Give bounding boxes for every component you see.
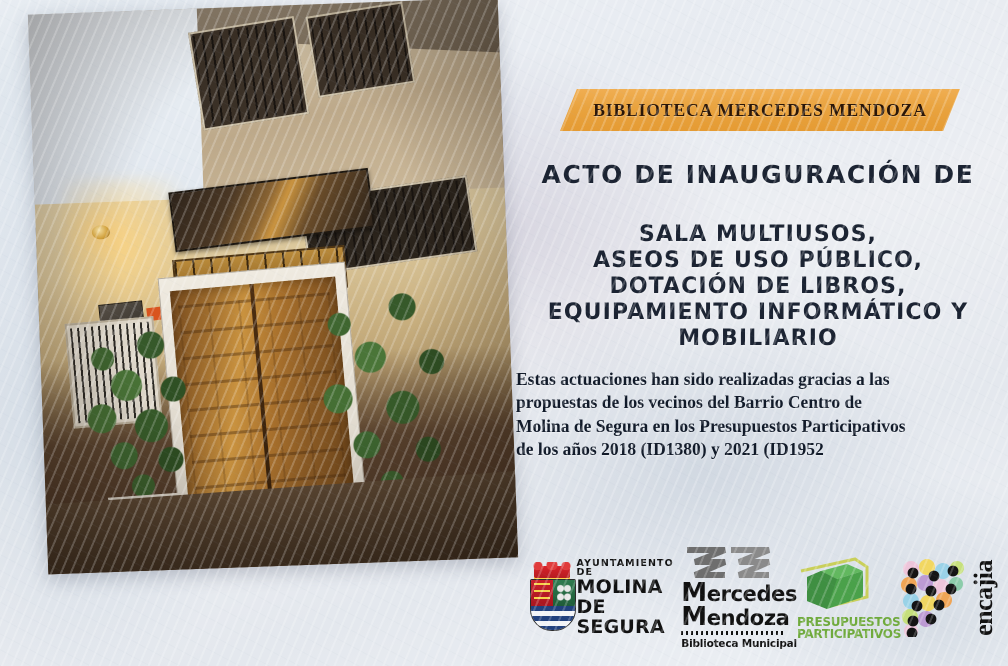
logo-presupuestos-participativos: PRESUPUESTOS PARTICIPATIVOS: [797, 557, 901, 640]
logo-biblioteca-mercedes-mendoza: Mercedes Mendoza Biblioteca Municipal: [681, 546, 797, 651]
library-banner: BIBLIOTECA MERCEDES MENDOZA: [560, 89, 960, 131]
logo-ayuntamiento-molina-de-segura: AYUNTAMIENTO DE MOLINA DE SEGURA: [528, 559, 681, 638]
mm-name-line-2: Mendoza: [681, 606, 797, 630]
building-photo: [28, 0, 518, 574]
presupuestos-wordmark: PRESUPUESTOS PARTICIPATIVOS: [797, 616, 901, 640]
description-line-3: Molina de Segura en los Presupuestos Par…: [516, 415, 1002, 438]
subtitle-line-2: ASEOS DE USO PÚBLICO,: [508, 248, 1008, 274]
subtitle-block: SALA MULTIUSOS, ASEOS DE USO PÚBLICO, DO…: [508, 222, 1008, 352]
mm-divider: [681, 631, 785, 635]
logo-encajia: encajia: [901, 559, 999, 637]
presupuestos-line-1: PRESUPUESTOS: [797, 616, 901, 628]
content-column: BIBLIOTECA MERCEDES MENDOZA ACTO DE INAU…: [508, 0, 1008, 666]
poster-canvas: BIBLIOTECA MERCEDES MENDOZA ACTO DE INAU…: [0, 0, 1008, 666]
page-title: ACTO DE INAUGURACIÓN DE: [508, 160, 1008, 189]
encajia-wordmark: encajia: [969, 560, 999, 636]
ayuntamiento-wordmark: AYUNTAMIENTO DE MOLINA DE SEGURA: [577, 559, 682, 638]
subtitle-line-4: EQUIPAMIENTO INFORMÁTICO Y: [508, 300, 1008, 326]
ayuntamiento-line-3: DE SEGURA: [577, 598, 682, 638]
subtitle-line-5: MOBILIARIO: [508, 326, 1008, 352]
logo-row: AYUNTAMIENTO DE MOLINA DE SEGURA Mercede…: [516, 540, 1008, 656]
presupuestos-line-2: PARTICIPATIVOS: [797, 628, 901, 640]
library-banner-label: BIBLIOTECA MERCEDES MENDOZA: [593, 100, 927, 121]
participation-arrow-icon: [797, 557, 875, 613]
encajia-dots-icon: [901, 559, 967, 637]
mm-subtitle: Biblioteca Municipal: [681, 638, 797, 650]
description-line-4: de los años 2018 (ID1380) y 2021 (ID1952: [516, 438, 1002, 461]
subtitle-line-1: SALA MULTIUSOS,: [508, 222, 1008, 248]
description-text: Estas actuaciones han sido realizadas gr…: [516, 368, 1002, 461]
coat-of-arms-icon: [528, 566, 569, 630]
subtitle-line-3: DOTACIÓN DE LIBROS,: [508, 274, 1008, 300]
mercedes-mendoza-wordmark: Mercedes Mendoza: [681, 582, 797, 630]
description-line-1: Estas actuaciones han sido realizadas gr…: [516, 368, 1002, 391]
description-line-2: propuestas de los vecinos del Barrio Cen…: [516, 391, 1002, 414]
mm-monogram-icon: [685, 546, 773, 580]
